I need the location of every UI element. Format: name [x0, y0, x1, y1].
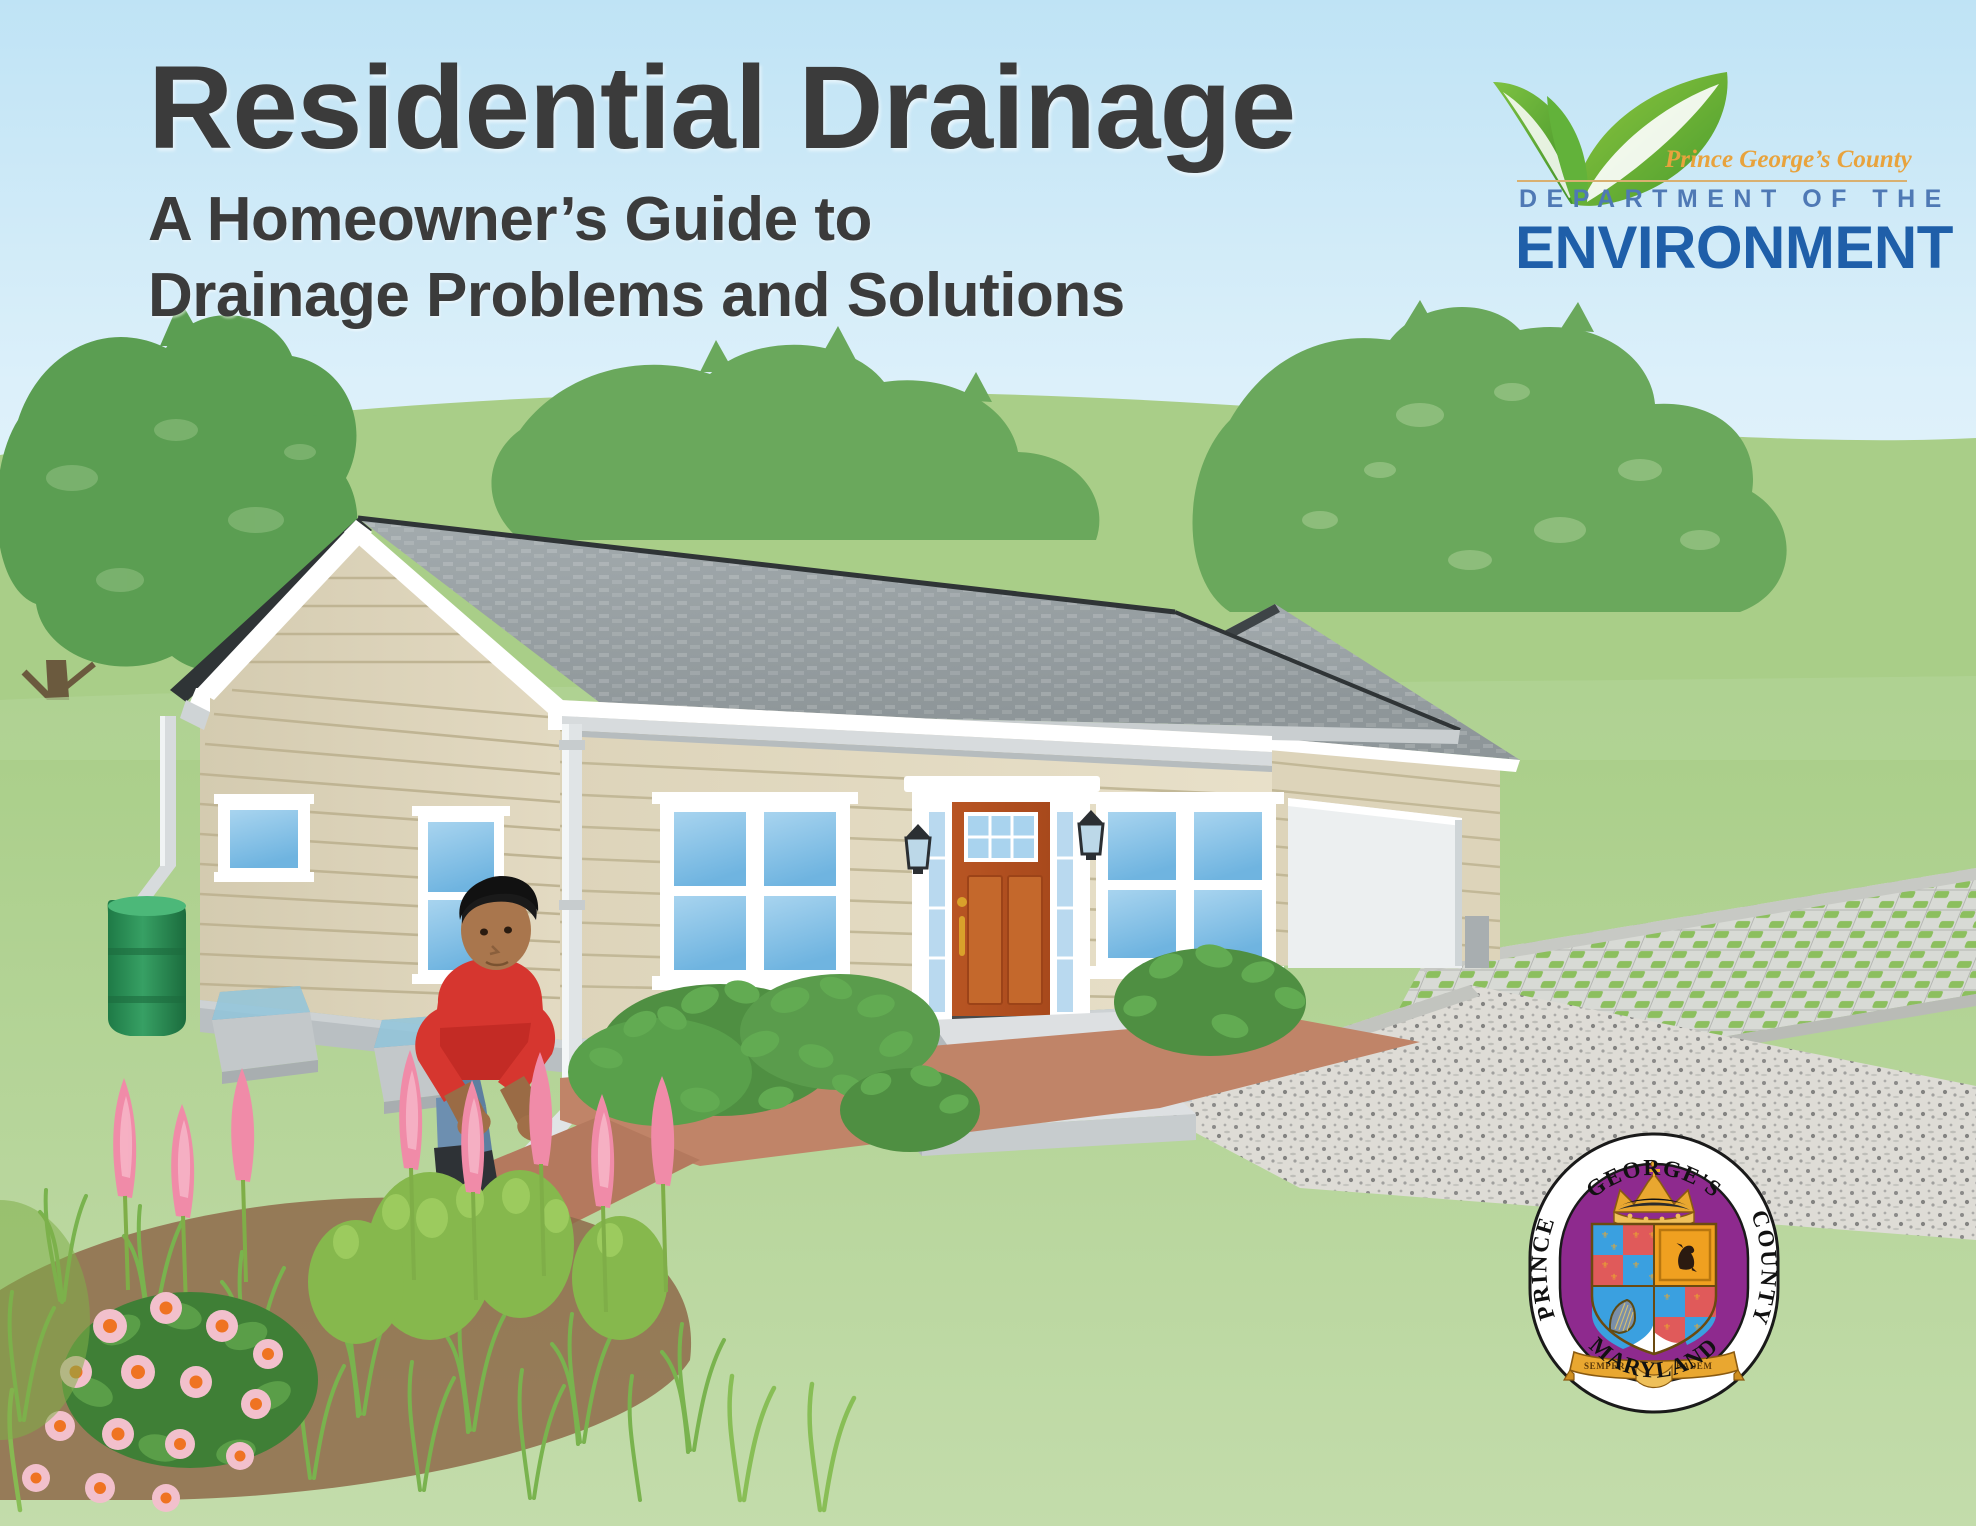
subtitle-line-1: A Homeowner’s Guide to	[148, 182, 1328, 258]
garage-jamb	[1465, 916, 1489, 968]
garage-door	[1288, 798, 1462, 968]
logo-divider	[1517, 180, 1907, 182]
title-block: Residential Drainage A Homeowner’s Guide…	[148, 48, 1328, 334]
svg-text:⚜: ⚜	[1601, 1260, 1609, 1270]
page-title: Residential Drainage	[148, 48, 1328, 168]
svg-text:⚜: ⚜	[1663, 1292, 1671, 1302]
svg-text:⚜: ⚜	[1601, 1230, 1609, 1240]
svg-text:⚜: ⚜	[1663, 1322, 1671, 1332]
department-of-environment-logo: Prince George’s County DEPARTMENT OF THE…	[1487, 52, 1907, 282]
rain-barrel	[108, 896, 186, 1036]
subtitle-line-2: Drainage Problems and Solutions	[148, 258, 1328, 334]
door-knob	[957, 897, 967, 907]
front-door-assembly	[904, 776, 1104, 1034]
logo-environment-text: ENVIRONMENT	[1515, 218, 1915, 278]
svg-text:⚜: ⚜	[1610, 1272, 1618, 1282]
window-gable-small	[214, 794, 314, 882]
window-front-left	[652, 792, 858, 990]
publication-cover: Residential Drainage A Homeowner’s Guide…	[0, 0, 1976, 1526]
sidelight-left	[929, 812, 945, 1012]
svg-text:⚜: ⚜	[1693, 1292, 1701, 1302]
svg-text:⚜: ⚜	[1632, 1230, 1640, 1240]
svg-text:⚜: ⚜	[1610, 1242, 1618, 1252]
logo-department-text: DEPARTMENT OF THE	[1519, 185, 1909, 214]
coat-of-arms-shield: ⚜⚜ ⚜⚜ ⚜⚜ ⚜⚜	[1592, 1224, 1716, 1354]
county-seal: ⚜⚜ ⚜⚜ ⚜⚜ ⚜⚜	[1524, 1128, 1784, 1418]
sidelight-right	[1057, 812, 1073, 1012]
svg-text:⚜: ⚜	[1632, 1260, 1640, 1270]
window-well-1	[212, 986, 318, 1084]
logo-county-text: Prince George’s County	[1665, 146, 1907, 174]
door-handle	[959, 916, 965, 956]
